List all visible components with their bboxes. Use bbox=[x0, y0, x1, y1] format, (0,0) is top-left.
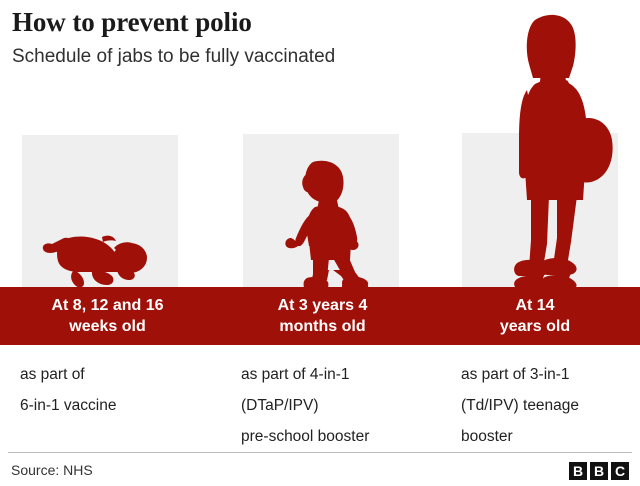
source-label: Source: NHS bbox=[11, 461, 93, 479]
age-banner-line: weeks old bbox=[69, 316, 145, 337]
baby-lying-silhouette bbox=[40, 228, 150, 290]
description-column-2: as part of 4-in-1 (DTaP/IPV) pre-school … bbox=[241, 359, 369, 452]
teenager-feet-overlay bbox=[497, 268, 613, 290]
toddler-walking-silhouette bbox=[283, 160, 373, 287]
age-banner-line: At 3 years 4 bbox=[278, 295, 368, 316]
description-columns: as part of 6-in-1 vaccine as part of 4-i… bbox=[0, 345, 640, 452]
polio-vaccination-schedule-infographic: How to prevent polio Schedule of jabs to… bbox=[0, 0, 640, 486]
age-banner: At 8, 12 and 16 weeks old At 3 years 4 m… bbox=[0, 287, 640, 345]
description-line: as part of bbox=[20, 359, 117, 390]
description-line: as part of 4-in-1 bbox=[241, 359, 369, 390]
bbc-logo-letter: B bbox=[569, 462, 587, 480]
description-line: booster bbox=[461, 421, 579, 452]
bbc-logo-letter: B bbox=[590, 462, 608, 480]
age-banner-cell-3: At 14 years old bbox=[430, 287, 640, 345]
age-banner-line: years old bbox=[500, 316, 570, 337]
age-banner-line: At 14 bbox=[515, 295, 554, 316]
description-line: as part of 3-in-1 bbox=[461, 359, 579, 390]
teenager-standing-with-bag-silhouette bbox=[497, 14, 613, 287]
bbc-logo-letter: C bbox=[611, 462, 629, 480]
description-column-1: as part of 6-in-1 vaccine bbox=[20, 359, 117, 421]
age-banner-line: At 8, 12 and 16 bbox=[51, 295, 163, 316]
illustration-area bbox=[0, 0, 640, 287]
toddler-feet-overlay bbox=[283, 270, 373, 290]
description-line: (DTaP/IPV) bbox=[241, 390, 369, 421]
age-banner-cell-1: At 8, 12 and 16 weeks old bbox=[0, 287, 215, 345]
age-banner-cell-2: At 3 years 4 months old bbox=[215, 287, 430, 345]
description-line: pre-school booster bbox=[241, 421, 369, 452]
description-column-3: as part of 3-in-1 (Td/IPV) teenage boost… bbox=[461, 359, 579, 452]
footer-divider bbox=[8, 452, 632, 453]
description-line: (Td/IPV) teenage bbox=[461, 390, 579, 421]
description-line: 6-in-1 vaccine bbox=[20, 390, 117, 421]
age-banner-line: months old bbox=[279, 316, 365, 337]
bbc-logo: B B C bbox=[569, 462, 629, 480]
